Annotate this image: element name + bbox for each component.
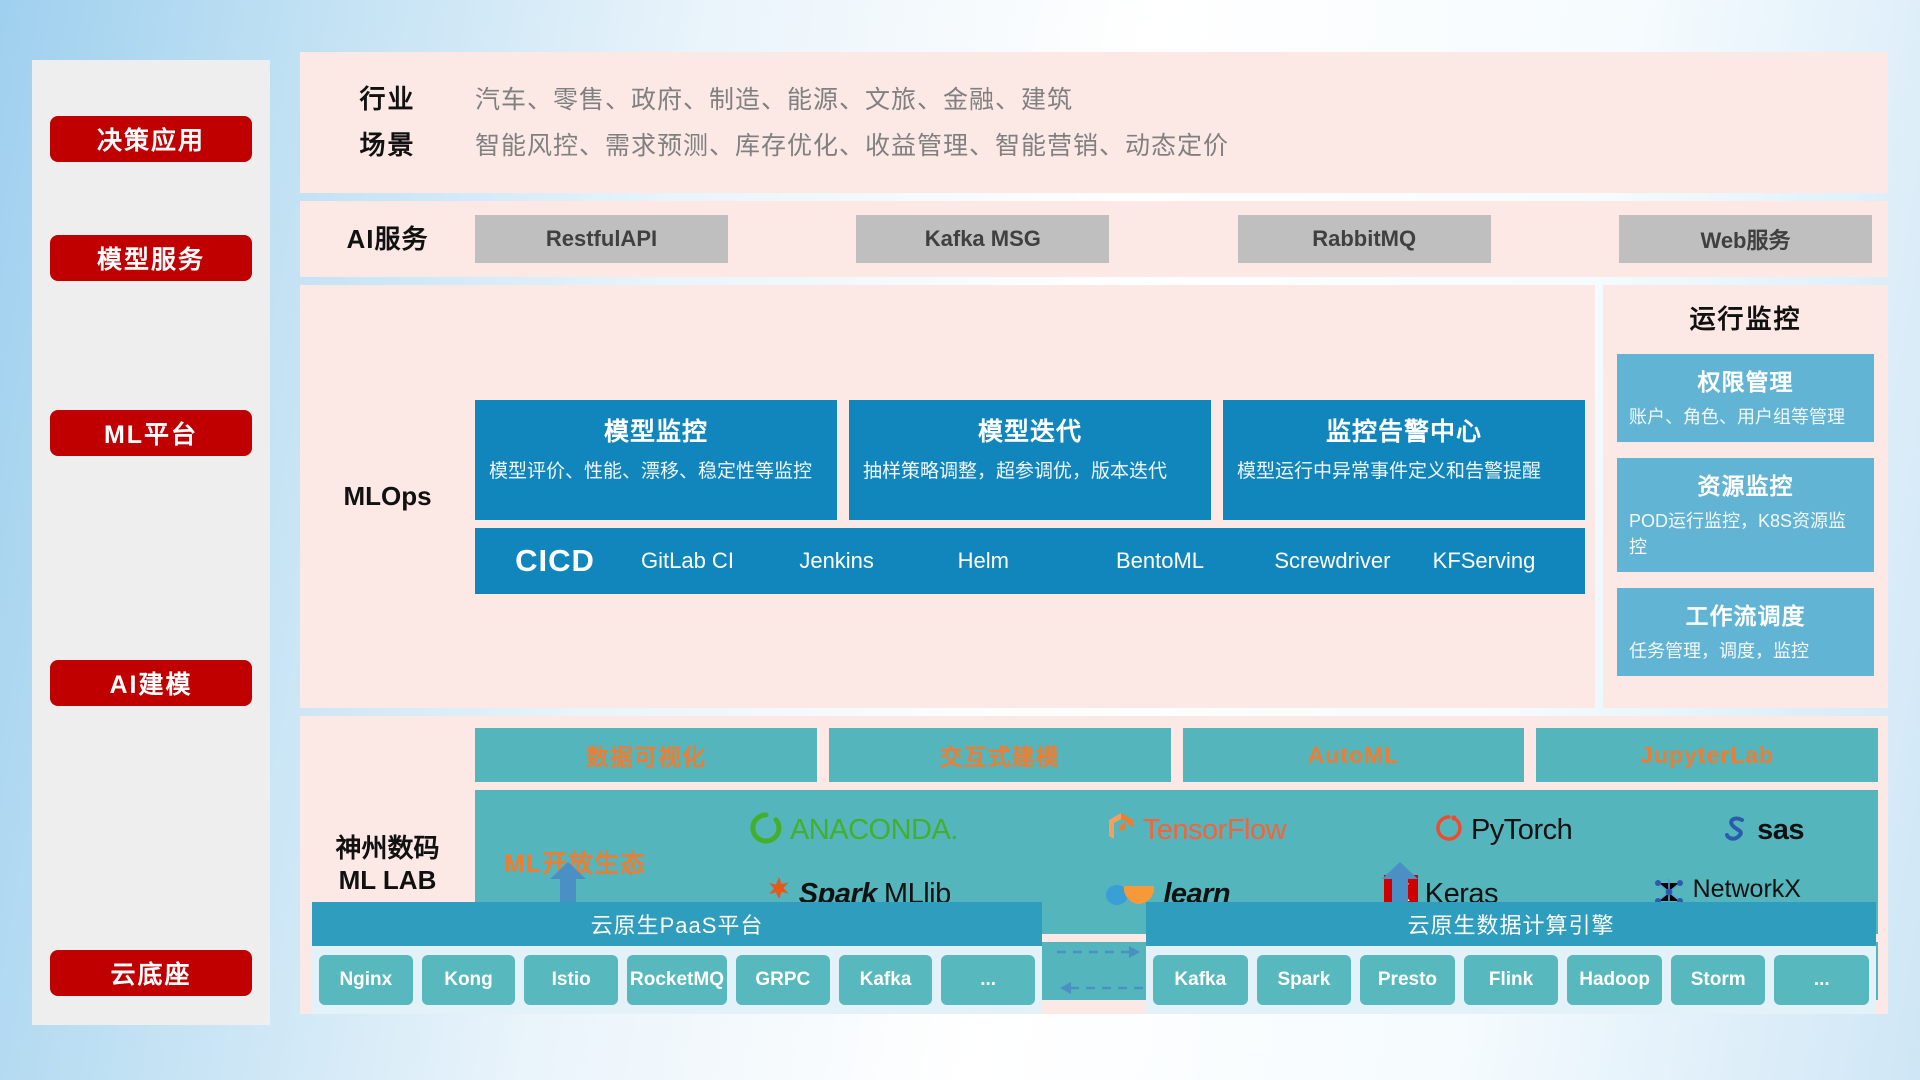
scenario-row: 场景 智能风控、需求预测、库存优化、收益管理、智能营销、动态定价 <box>300 125 1888 162</box>
mlops-card-model-monitoring[interactable]: 模型监控 模型评价、性能、漂移、稳定性等监控 <box>475 400 837 520</box>
rail-item-cloud-base[interactable]: 云底座 <box>50 950 252 996</box>
compute-chip-kafka[interactable]: Kafka <box>1153 955 1248 1005</box>
card-desc: POD运行监控，K8S资源监控 <box>1629 508 1862 560</box>
service-chip-web[interactable]: Web服务 <box>1619 215 1872 263</box>
mlops-label: MLOps <box>300 480 475 513</box>
band-decision-application: 行业 汽车、零售、政府、制造、能源、文旅、金融、建筑 场景 智能风控、需求预测、… <box>300 52 1888 193</box>
compute-engine-title: 云原生数据计算引擎 <box>1146 902 1876 946</box>
cloud-native-paas-platform: 云原生PaaS平台 Nginx Kong Istio RocketMQ GRPC… <box>312 902 1042 1014</box>
scenario-value: 智能风控、需求预测、库存优化、收益管理、智能营销、动态定价 <box>475 126 1229 162</box>
band-ml-platform: MLOps 模型监控 模型评价、性能、漂移、稳定性等监控 模型迭代 抽样策略调整… <box>300 285 1888 708</box>
mlops-card-model-iteration[interactable]: 模型迭代 抽样策略调整，超参调优，版本迭代 <box>849 400 1211 520</box>
cicd-item-helm[interactable]: Helm <box>952 546 1110 576</box>
industry-value: 汽车、零售、政府、制造、能源、文旅、金融、建筑 <box>475 80 1073 116</box>
layer-rail: 决策应用 模型服务 ML平台 AI建模 云底座 <box>32 60 270 1025</box>
monitor-card-workflow[interactable]: 工作流调度 任务管理，调度，监控 <box>1617 588 1874 676</box>
card-title: 权限管理 <box>1629 363 1862 397</box>
cicd-item-list: GitLab CI Jenkins Helm BentoML Screwdriv… <box>635 546 1585 576</box>
paas-chip-rocketmq[interactable]: RocketMQ <box>627 955 727 1005</box>
card-title: 模型迭代 <box>863 412 1197 448</box>
rail-item-label: 决策应用 <box>97 121 205 157</box>
band-ai-service: AI服务 RestfulAPI Kafka MSG RabbitMQ Web服务 <box>300 201 1888 277</box>
rail-item-label: 云底座 <box>110 955 191 991</box>
card-title: 资源监控 <box>1629 467 1862 501</box>
pytorch-icon <box>1434 811 1464 850</box>
monitor-card-permission[interactable]: 权限管理 账户、角色、用户组等管理 <box>1617 354 1874 442</box>
sas-label: sas <box>1757 814 1804 847</box>
card-title: 模型监控 <box>489 412 823 448</box>
cicd-item-bentoml[interactable]: BentoML <box>1110 546 1268 576</box>
tensorflow-icon <box>1106 811 1136 850</box>
card-title: 监控告警中心 <box>1237 412 1571 448</box>
ml-lab-label-line1: 神州数码 <box>300 832 475 865</box>
paas-chip-grpc[interactable]: GRPC <box>736 955 830 1005</box>
arrow-up-paas-icon <box>548 862 588 904</box>
anaconda-logo[interactable]: ANACONDA. <box>749 811 958 850</box>
ecosystem-logo-row-1: ANACONDA. TensorFlow <box>675 798 1878 862</box>
service-chip-kafka-msg[interactable]: Kafka MSG <box>856 215 1109 263</box>
paas-chip-kong[interactable]: Kong <box>422 955 516 1005</box>
compute-chip-hadoop[interactable]: Hadoop <box>1567 955 1662 1005</box>
pytorch-logo[interactable]: PyTorch <box>1434 811 1572 850</box>
rail-item-decision-app[interactable]: 决策应用 <box>50 116 252 162</box>
sas-icon <box>1720 811 1750 850</box>
lab-tab-automl[interactable]: AutoML <box>1183 728 1525 782</box>
band-cloud-base: 云原生PaaS平台 Nginx Kong Istio RocketMQ GRPC… <box>300 862 1888 1037</box>
anaconda-icon <box>749 811 783 850</box>
compute-chip-list: Kafka Spark Presto Flink Hadoop Storm ..… <box>1146 946 1876 1014</box>
paas-chip-kafka[interactable]: Kafka <box>839 955 933 1005</box>
card-title: 工作流调度 <box>1629 597 1862 631</box>
compute-chip-presto[interactable]: Presto <box>1360 955 1455 1005</box>
sas-logo[interactable]: sas <box>1720 811 1804 850</box>
paas-chip-list: Nginx Kong Istio RocketMQ GRPC Kafka ... <box>312 946 1042 1014</box>
rail-item-label: 模型服务 <box>97 240 205 276</box>
compute-chip-more[interactable]: ... <box>1774 955 1869 1005</box>
cicd-item-gitlab-ci[interactable]: GitLab CI <box>635 546 793 576</box>
rail-item-ai-modeling[interactable]: AI建模 <box>50 660 252 706</box>
bidirectional-link-arrows-icon <box>1057 940 1143 1000</box>
cicd-bar: CICD GitLab CI Jenkins Helm BentoML Scre… <box>475 528 1585 594</box>
lab-tab-data-visualization[interactable]: 数据可视化 <box>475 728 817 782</box>
card-desc: 模型运行中异常事件定义和告警提醒 <box>1237 458 1571 486</box>
card-desc: 抽样策略调整，超参调优，版本迭代 <box>863 458 1197 486</box>
arrow-up-compute-icon <box>1380 862 1420 904</box>
rail-item-model-service[interactable]: 模型服务 <box>50 235 252 281</box>
paas-chip-nginx[interactable]: Nginx <box>319 955 413 1005</box>
industry-label: 行业 <box>300 79 475 116</box>
ai-service-label: AI服务 <box>300 223 475 256</box>
compute-chip-spark[interactable]: Spark <box>1257 955 1352 1005</box>
runtime-monitor-title: 运行监控 <box>1617 299 1874 336</box>
mlops-section: MLOps 模型监控 模型评价、性能、漂移、稳定性等监控 模型迭代 抽样策略调整… <box>300 285 1595 708</box>
ai-service-chip-list: RestfulAPI Kafka MSG RabbitMQ Web服务 <box>475 215 1888 263</box>
scenario-label: 场景 <box>300 125 475 162</box>
anaconda-label: ANACONDA. <box>790 814 958 847</box>
lab-tab-interactive-modeling[interactable]: 交互式建模 <box>829 728 1171 782</box>
mlops-card-alert-center[interactable]: 监控告警中心 模型运行中异常事件定义和告警提醒 <box>1223 400 1585 520</box>
service-chip-restfulapi[interactable]: RestfulAPI <box>475 215 728 263</box>
mlops-card-list: 模型监控 模型评价、性能、漂移、稳定性等监控 模型迭代 抽样策略调整，超参调优，… <box>475 400 1585 520</box>
industry-row: 行业 汽车、零售、政府、制造、能源、文旅、金融、建筑 <box>300 79 1888 116</box>
rail-item-ml-platform[interactable]: ML平台 <box>50 410 252 456</box>
lab-tab-jupyterlab[interactable]: JupyterLab <box>1536 728 1878 782</box>
card-desc: 账户、角色、用户组等管理 <box>1629 404 1862 430</box>
lab-tab-list: 数据可视化 交互式建模 AutoML JupyterLab <box>475 728 1878 782</box>
compute-chip-storm[interactable]: Storm <box>1671 955 1766 1005</box>
cicd-title: CICD <box>475 543 635 579</box>
runtime-monitor-panel: 运行监控 权限管理 账户、角色、用户组等管理 资源监控 POD运行监控，K8S资… <box>1603 285 1888 708</box>
tensorflow-logo[interactable]: TensorFlow <box>1106 811 1286 850</box>
rail-item-label: ML平台 <box>104 415 198 451</box>
paas-chip-istio[interactable]: Istio <box>524 955 618 1005</box>
cicd-item-screwdriver[interactable]: Screwdriver <box>1268 546 1426 576</box>
cicd-item-jenkins[interactable]: Jenkins <box>793 546 951 576</box>
cicd-item-kfserving[interactable]: KFServing <box>1427 546 1585 576</box>
paas-chip-more[interactable]: ... <box>941 955 1035 1005</box>
card-desc: 任务管理，调度，监控 <box>1629 638 1862 664</box>
card-desc: 模型评价、性能、漂移、稳定性等监控 <box>489 458 823 486</box>
service-chip-rabbitmq[interactable]: RabbitMQ <box>1238 215 1491 263</box>
compute-chip-flink[interactable]: Flink <box>1464 955 1559 1005</box>
tensorflow-label: TensorFlow <box>1143 814 1286 847</box>
rail-item-label: AI建模 <box>109 665 192 701</box>
monitor-card-resource[interactable]: 资源监控 POD运行监控，K8S资源监控 <box>1617 458 1874 572</box>
cloud-native-data-compute-engine: 云原生数据计算引擎 Kafka Spark Presto Flink Hadoo… <box>1146 902 1876 1014</box>
paas-title: 云原生PaaS平台 <box>312 902 1042 946</box>
pytorch-label: PyTorch <box>1471 814 1572 847</box>
